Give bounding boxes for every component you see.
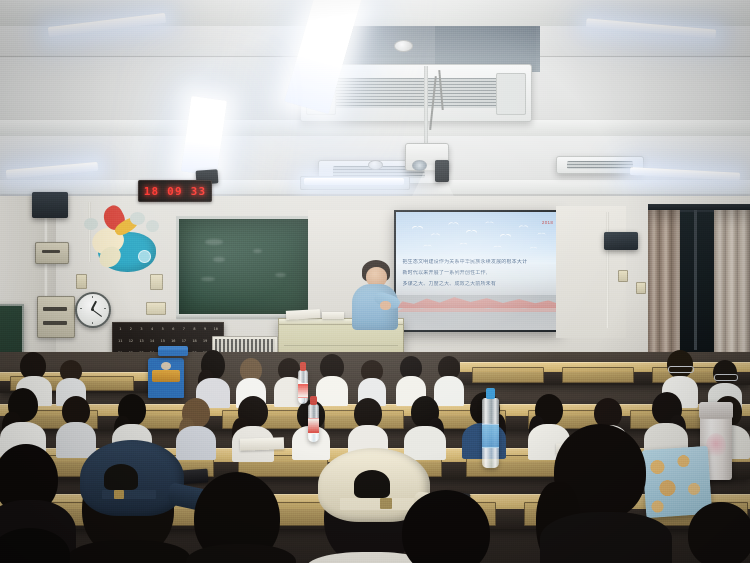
bird-icon-7 (519, 225, 528, 229)
student (316, 354, 348, 406)
wall-socket (76, 274, 87, 289)
slide-landscape (396, 295, 558, 330)
audience-seating (0, 352, 750, 563)
led-digital-clock: 18 09 33 (138, 180, 212, 202)
seat-number: 14 (147, 338, 158, 350)
seat-number: 8 (189, 326, 200, 338)
papers-on-lectern (286, 309, 320, 320)
bird-icon-8 (538, 233, 546, 237)
electrical-panel-2 (37, 296, 75, 338)
ceiling (0, 0, 750, 215)
seat-number: 5 (157, 326, 168, 338)
seat-number: 13 (136, 338, 147, 350)
bottle-label (298, 383, 308, 398)
bird-icon-3 (449, 222, 459, 227)
classroom-photo: 18 09 33 1234567891011121314151617181920… (0, 0, 750, 563)
student-foreground (186, 472, 296, 563)
seat-number: 7 (179, 326, 190, 338)
bird-icon-5 (485, 222, 493, 226)
bottle-cap-icon (486, 388, 496, 399)
analog-wall-clock (75, 292, 111, 328)
wall-segment-right (556, 206, 626, 338)
wall-conduit-3 (606, 212, 609, 328)
bird-icon-6 (500, 234, 511, 239)
projection-screen: 2018 把生态文明建设作为关系中华民族永续发展的根本大计 新时代以来开展了一系… (394, 210, 560, 332)
electrical-panel (35, 242, 69, 264)
bird-icon-2 (431, 234, 440, 238)
bird-icon-12 (530, 247, 537, 250)
wall-socket-3 (618, 270, 628, 282)
smoke-detector-icon-2 (368, 160, 383, 170)
bottle-cap-icon (310, 396, 316, 405)
bird-icon (412, 226, 423, 231)
papers-on-lectern-2 (322, 312, 344, 319)
ceiling-beam-2 (0, 120, 750, 136)
student-foreground (688, 502, 750, 563)
thermos-decal (706, 433, 727, 460)
student-head (688, 502, 750, 563)
projector-lens-icon (412, 160, 427, 171)
seat-number: 18 (189, 338, 200, 350)
student-head (402, 490, 490, 563)
slide-line-3: 多谋之大、力度之大、成效之大前所未有 (402, 281, 548, 289)
slide-ridge-near (396, 292, 558, 308)
seat-number: 3 (136, 326, 147, 338)
water-bottle (298, 370, 308, 404)
seat-number: 4 (147, 326, 158, 338)
student-head (713, 360, 737, 385)
wall-vent (146, 302, 166, 315)
student-head (0, 528, 70, 563)
bird-icon-4 (466, 230, 477, 235)
seat-number: 2 (126, 326, 137, 338)
student-foreground (0, 528, 74, 563)
glasses-icon (668, 366, 694, 373)
bottle-label (482, 424, 499, 448)
seat-number: 19 (200, 338, 211, 350)
glasses-icon (714, 374, 738, 381)
blue-chair (148, 358, 184, 398)
bird-icon-10 (460, 243, 467, 246)
notebook (240, 437, 284, 451)
student-body (540, 512, 672, 563)
seat-number: 6 (168, 326, 179, 338)
led-clock-time: 18 09 33 (144, 185, 207, 198)
blue-stool (158, 346, 188, 356)
wall-mural (76, 208, 166, 276)
navy-cap (80, 440, 184, 516)
presenter-hand (380, 301, 391, 310)
window-mullion (694, 210, 697, 350)
wall-socket-4 (636, 282, 646, 294)
wall-speaker-right (604, 232, 638, 250)
seat-number: 9 (200, 326, 211, 338)
bottle-cap-icon (300, 362, 306, 371)
water-bottle (308, 404, 319, 442)
slide-sky (396, 212, 558, 264)
student-with-navy-cap (64, 440, 192, 563)
wall-speaker-left (32, 192, 68, 218)
bird-icon-11 (494, 246, 502, 250)
student-head (667, 350, 693, 378)
projector-mount-rod (424, 66, 428, 144)
desk-row-back (460, 362, 750, 385)
student-foreground (392, 490, 504, 563)
fluorescent-tube-center-back (304, 178, 404, 185)
bottle-label (308, 418, 319, 434)
water-bottle-main (482, 398, 499, 468)
green-chalkboard (176, 216, 314, 320)
smoke-detector-icon (394, 40, 413, 52)
wall-socket-2 (150, 274, 163, 290)
ceiling-speaker (435, 160, 449, 182)
slide-line-1: 把生态文明建设作为关系中华民族永续发展的根本大计 (402, 259, 548, 267)
thermos-lid (699, 402, 734, 419)
student-body (68, 540, 190, 563)
bird-icon-9 (424, 245, 432, 249)
yellow-bag-on-chair (152, 370, 180, 382)
seat-number: 11 (115, 338, 126, 350)
seat-number: 1 (115, 326, 126, 338)
presenter (344, 260, 406, 330)
slide-content: 2018 把生态文明建设作为关系中华民族永续发展的根本大计 新时代以来开展了一系… (396, 212, 558, 330)
slide-badge: 2018 (542, 220, 553, 225)
seat-number: 12 (126, 338, 137, 350)
slide-line-2: 新时代以来开展了一系列开创性工作, (402, 270, 548, 278)
student-foreground-ponytail (534, 424, 674, 563)
